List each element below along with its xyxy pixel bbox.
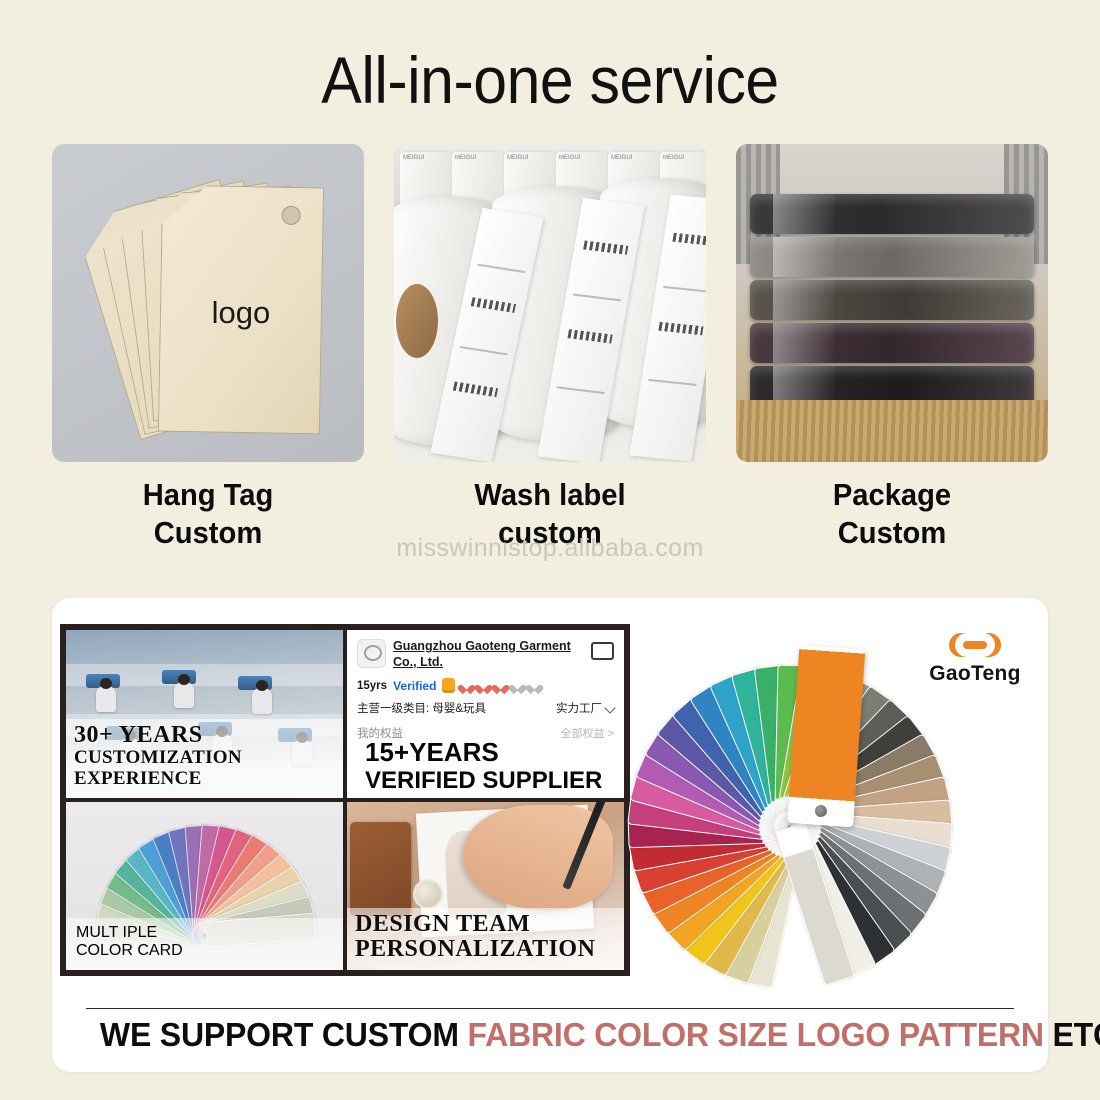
banner-suffix: ETC. — [1044, 1016, 1100, 1053]
wash-label-photo: MEIGUIMEIGUI MEIGUIMEIGUI MEIGUIMEIGUI — [394, 144, 706, 462]
caption-line-2: Custom — [745, 514, 1038, 552]
caption-line-1: Hang Tag — [61, 476, 354, 514]
caption-line-2: custom — [403, 514, 696, 552]
wooden-table — [736, 400, 1048, 462]
supplier-caption-line1: 15+YEARS — [365, 739, 624, 765]
banner-accent: FABRIC COLOR SIZE LOGO PATTERN — [468, 1016, 1044, 1053]
medal-icon — [442, 678, 455, 693]
supplier-overlay-caption: 15+YEARS VERIFIED SUPPLIER — [347, 739, 624, 794]
color-card-caption: MULT IPLE COLOR CARD — [66, 918, 343, 970]
product-card-hang-tag[interactable]: logo Hang Tag Custom — [52, 144, 364, 552]
fan-rivet-icon — [814, 804, 827, 817]
factory-caption-line2: CUSTOMIZATION EXPERIENCE — [74, 748, 335, 790]
heart-icon-filled — [461, 681, 472, 691]
heart-icon-empty — [529, 681, 540, 691]
support-banner: WE SUPPORT CUSTOM FABRIC COLOR SIZE LOGO… — [86, 1008, 1014, 1054]
design-caption: DESIGN TEAM PERSONALIZATION — [347, 908, 624, 970]
hang-tag-shape-front: logo — [158, 185, 324, 435]
strong-factory-label[interactable]: 实力工厂 — [556, 700, 614, 716]
supplier-caption-line2: VERIFIED SUPPLIER — [365, 768, 624, 794]
poly-bag — [750, 323, 1034, 363]
factory-caption: 30+ YEARS CUSTOMIZATION EXPERIENCE — [66, 719, 343, 798]
page-title: All-in-one service — [44, 0, 1056, 118]
collage-cell-supplier-profile: Guangzhou Gaoteng Garment Co., Ltd. 15yr… — [347, 630, 624, 798]
company-name-link[interactable]: Guangzhou Gaoteng Garment Co., Ltd. — [393, 639, 584, 670]
color-card-caption-line2: COLOR CARD — [76, 942, 333, 960]
caption-line-1: Package — [745, 476, 1038, 514]
brand-name: GaoTeng — [916, 662, 1034, 686]
chevron-down-icon — [604, 703, 615, 714]
design-caption-line2: PERSONALIZATION — [355, 937, 616, 962]
banner-text: WE SUPPORT CUSTOM FABRIC COLOR SIZE LOGO… — [100, 1016, 1000, 1054]
collage-cell-color-card: MULT IPLE COLOR CARD — [66, 802, 343, 970]
card-caption-hang-tag: Hang Tag Custom — [61, 476, 354, 552]
caption-line-2: Custom — [61, 514, 354, 552]
heart-icon-filled — [478, 681, 489, 691]
collage-cell-factory: 30+ YEARS CUSTOMIZATION EXPERIENCE — [66, 630, 343, 798]
company-avatar-icon — [357, 639, 386, 668]
banner-prefix: WE SUPPORT CUSTOM — [100, 1016, 468, 1053]
product-card-package[interactable]: Package Custom — [736, 144, 1048, 552]
collage-cell-design: DESIGN TEAM PERSONALIZATION — [347, 802, 624, 970]
main-category-label: 主营一级类目: 母婴&玩具 — [357, 700, 486, 716]
hang-tag-photo: logo — [52, 144, 364, 462]
color-card-caption-line1: MULT IPLE — [76, 924, 333, 942]
package-photo — [736, 144, 1048, 462]
poly-bag — [750, 194, 1034, 234]
heart-icon-filled — [495, 681, 506, 691]
message-icon[interactable] — [591, 642, 614, 660]
poly-bag — [750, 280, 1034, 320]
product-cards-row: logo Hang Tag Custom MEIGUIMEIGUI MEIGUI… — [0, 144, 1100, 552]
caption-line-1: Wash label — [403, 476, 696, 514]
hang-tag-hole-icon — [281, 206, 300, 225]
years-badge: 15yrs — [357, 680, 387, 692]
strong-factory-text: 实力工厂 — [556, 700, 602, 716]
poly-bag — [750, 237, 1034, 277]
factory-caption-line1: 30+ YEARS — [74, 723, 335, 748]
leather-swatch — [350, 822, 411, 916]
brand-logo: GaoTeng — [916, 626, 1034, 686]
roll-core — [396, 284, 438, 358]
design-caption-line1: DESIGN TEAM — [355, 912, 616, 937]
info-panel: 30+ YEARS CUSTOMIZATION EXPERIENCE Guang… — [52, 598, 1048, 1072]
interlocking-links-logo-icon — [916, 626, 1034, 664]
banner-divider — [86, 1008, 1014, 1009]
card-caption-wash-label: Wash label custom — [403, 476, 696, 552]
collage-grid: 30+ YEARS CUSTOMIZATION EXPERIENCE Guang… — [60, 624, 630, 976]
heart-icon-empty — [512, 681, 523, 691]
orange-sample-card — [787, 645, 865, 827]
verified-badge: Verified — [393, 679, 436, 693]
hang-tag-logo-text: logo — [161, 295, 321, 331]
color-fan-section: GaoTeng — [630, 624, 1048, 976]
card-caption-package: Package Custom — [745, 476, 1038, 552]
product-card-wash-label[interactable]: MEIGUIMEIGUI MEIGUIMEIGUI MEIGUIMEIGUI W… — [394, 144, 706, 552]
